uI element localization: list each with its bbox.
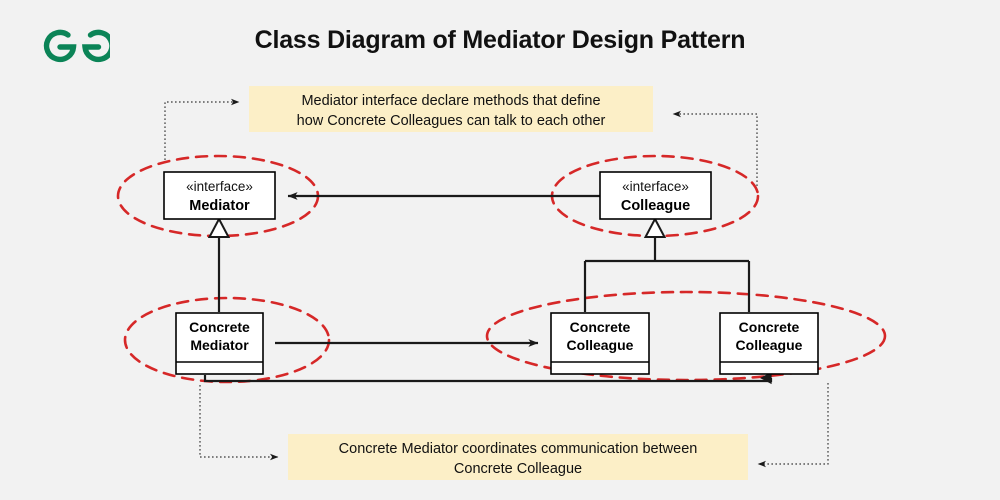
note-concrete-mediator-line2: Concrete Colleague xyxy=(454,461,582,477)
class-stereotype: «interface» xyxy=(622,179,689,194)
class-name-line-2: Colleague xyxy=(736,337,803,353)
class-name-line-1: Concrete xyxy=(189,319,250,335)
class-box-concrete-mediator[interactable]: Concrete Mediator xyxy=(176,313,263,374)
class-box-concrete-colleague-2[interactable]: Concrete Colleague xyxy=(720,313,818,374)
rel-concrete-colleague-2-to-mediator xyxy=(205,375,771,381)
note-concrete-mediator-line1: Concrete Mediator coordinates communicat… xyxy=(339,441,698,457)
class-name-line-2: Colleague xyxy=(567,337,634,353)
note-connector-mediator xyxy=(165,102,239,160)
class-box-mediator[interactable]: «interface» Mediator xyxy=(164,172,275,219)
class-name-line-1: Concrete xyxy=(739,319,800,335)
note-connector-concrete-colleague xyxy=(758,383,828,464)
generalization-triangle-mediator xyxy=(210,219,229,237)
class-stereotype: «interface» xyxy=(186,179,253,194)
note-mediator-interface-line2: how Concrete Colleagues can talk to each… xyxy=(297,113,606,129)
note-connector-concrete-mediator xyxy=(200,385,278,457)
note-mediator-interface-line1: Mediator interface declare methods that … xyxy=(301,93,600,109)
uml-class-diagram: Mediator interface declare methods that … xyxy=(0,0,1000,500)
class-box-concrete-colleague-1[interactable]: Concrete Colleague xyxy=(551,313,649,374)
class-name-line-1: Concrete xyxy=(570,319,631,335)
generalization-triangle-colleague xyxy=(646,219,665,237)
diagram-canvas: Class Diagram of Mediator Design Pattern xyxy=(0,0,1000,500)
class-name: Colleague xyxy=(621,198,690,214)
class-name: Mediator xyxy=(189,198,250,214)
class-name-line-2: Mediator xyxy=(190,337,249,353)
highlight-concrete-colleagues xyxy=(487,292,885,380)
class-box-colleague[interactable]: «interface» Colleague xyxy=(600,172,711,219)
